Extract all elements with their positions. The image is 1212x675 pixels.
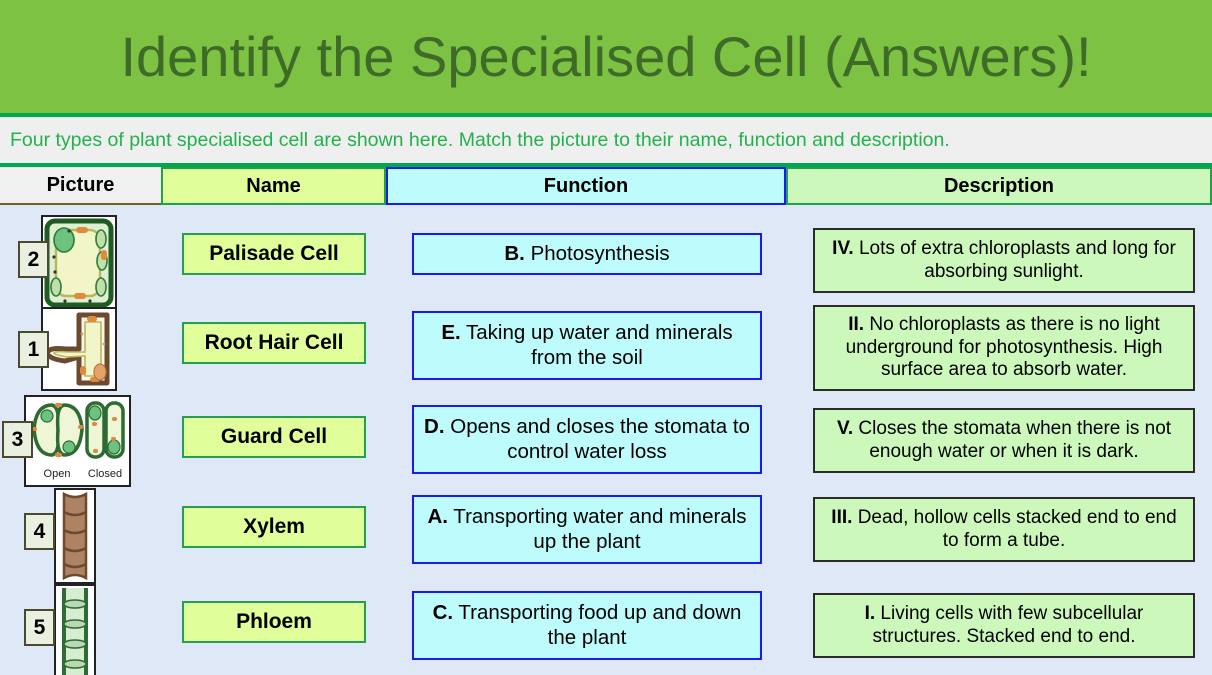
description-numeral: II. (848, 314, 864, 335)
function-letter: B. (504, 242, 525, 265)
svg-text:Open: Open (44, 468, 71, 480)
description-text: Dead, hollow cells stacked end to end to… (852, 507, 1176, 550)
function-box[interactable]: C. Transporting food up and down the pla… (412, 591, 762, 660)
function-letter: E. (441, 321, 460, 344)
description-numeral: III. (831, 507, 852, 528)
name-box[interactable]: Xylem (182, 506, 366, 548)
function-text: Transporting food up and down the plant (453, 601, 741, 648)
description-text: Closes the stomata when there is not eno… (853, 418, 1171, 461)
picture-badge: 4 (24, 513, 55, 550)
picture-badge: 5 (24, 609, 55, 646)
instruction-text: Four types of plant specialised cell are… (0, 129, 950, 152)
svg-text:Closed: Closed (88, 468, 122, 480)
function-letter: C. (433, 601, 454, 624)
function-box[interactable]: A. Transporting water and minerals up th… (412, 495, 762, 564)
picture-badge: 1 (18, 331, 49, 368)
description-numeral: IV. (832, 238, 854, 259)
root-hair-cell-diagram (41, 307, 117, 391)
xylem-vessel-diagram (54, 488, 96, 584)
instruction-banner: Four types of plant specialised cell are… (0, 117, 1212, 163)
description-numeral: I. (865, 603, 876, 624)
palisade-cell-diagram (41, 215, 117, 311)
description-box[interactable]: I. Living cells with few subcellular str… (813, 593, 1195, 658)
function-letter: A. (427, 505, 448, 528)
name-box[interactable]: Phloem (182, 601, 366, 643)
page-title: Identify the Specialised Cell (Answers)! (120, 24, 1091, 89)
function-text: Transporting water and minerals up the p… (448, 505, 747, 552)
column-header-picture: Picture (0, 167, 161, 205)
description-text: Lots of extra chloroplasts and long for … (854, 238, 1176, 281)
description-numeral: V. (837, 418, 853, 439)
function-box[interactable]: D. Opens and closes the stomata to contr… (412, 405, 762, 474)
table-body: 2 (0, 205, 1212, 675)
column-header-description: Description (786, 167, 1212, 205)
function-box[interactable]: E. Taking up water and minerals from the… (412, 311, 762, 380)
description-box[interactable]: V. Closes the stomata when there is not … (813, 408, 1195, 473)
description-text: No chloroplasts as there is no light und… (846, 314, 1163, 380)
function-text: Opens and closes the stomata to control … (445, 415, 750, 462)
name-box[interactable]: Guard Cell (182, 416, 366, 458)
function-letter: D. (424, 415, 445, 438)
guard-cell-diagram: Open Closed (24, 395, 131, 487)
name-box[interactable]: Palisade Cell (182, 233, 366, 275)
description-box[interactable]: III. Dead, hollow cells stacked end to e… (813, 497, 1195, 562)
phloem-vessel-diagram (54, 584, 96, 675)
slide-page: Identify the Specialised Cell (Answers)!… (0, 0, 1212, 675)
name-box[interactable]: Root Hair Cell (182, 322, 366, 364)
table-header-row: Picture Name Function Description (0, 167, 1212, 205)
picture-badge: 3 (2, 421, 33, 458)
column-header-function: Function (386, 167, 786, 205)
description-box[interactable]: IV. Lots of extra chloroplasts and long … (813, 228, 1195, 293)
column-header-name: Name (161, 167, 386, 205)
function-text: Taking up water and minerals from the so… (461, 321, 733, 368)
function-box[interactable]: B. Photosynthesis (412, 233, 762, 275)
title-banner: Identify the Specialised Cell (Answers)! (0, 0, 1212, 113)
description-text: Living cells with few subcellular struct… (873, 603, 1144, 646)
picture-badge: 2 (18, 241, 49, 278)
function-text: Photosynthesis (525, 242, 670, 265)
description-box[interactable]: II. No chloroplasts as there is no light… (813, 305, 1195, 391)
picture-column: 2 (0, 205, 161, 675)
